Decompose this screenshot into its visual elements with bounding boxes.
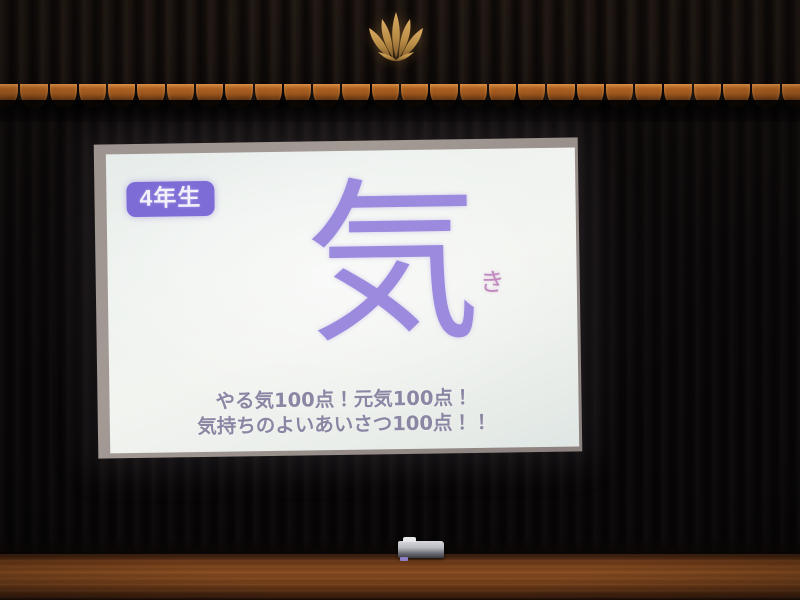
stage-scene: 4年生 気 き やる気100点！元気100点！ 気持ちのよいあいさつ100点！！ bbox=[0, 0, 800, 600]
main-kanji: 気 bbox=[304, 183, 481, 347]
grade-badge: 4年生 bbox=[126, 181, 214, 217]
valance-shadow bbox=[0, 100, 800, 122]
caption-line-2: 気持ちのよいあいさつ100点！！ bbox=[110, 409, 579, 442]
furigana-reading: き bbox=[479, 263, 505, 299]
lotus-emblem-icon bbox=[348, 8, 444, 62]
slide-caption: やる気100点！元気100点！ 気持ちのよいあいさつ100点！！ bbox=[109, 383, 579, 441]
stage-equipment bbox=[398, 541, 444, 558]
projection-screen: 4年生 気 き やる気100点！元気100点！ 気持ちのよいあいさつ100点！！ bbox=[94, 137, 583, 458]
projected-slide: 4年生 気 き やる気100点！元気100点！ 気持ちのよいあいさつ100点！！ bbox=[106, 147, 579, 453]
